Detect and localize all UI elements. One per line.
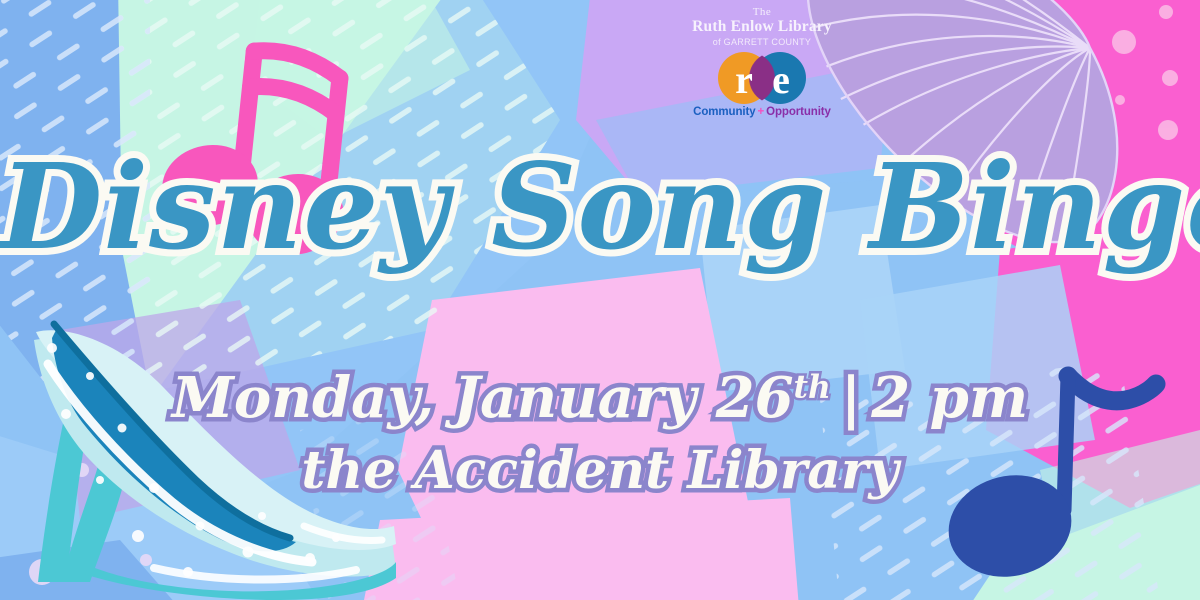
logo-letter-r: r — [735, 57, 753, 102]
tagline-community: Community — [693, 106, 755, 118]
event-title: Disney Song Bingo — [0, 148, 1200, 266]
disney-song-bingo-poster: The Ruth Enlow Library of GARRETT COUNTY… — [0, 0, 1200, 600]
event-date-time-line: Monday, January 26th|2 pm — [0, 368, 1200, 428]
logo-the-text: The — [676, 6, 848, 18]
date-ordinal-suffix: th — [794, 369, 831, 405]
library-logo: The Ruth Enlow Library of GARRETT COUNTY… — [676, 6, 848, 118]
details-block: Monday, January 26th|2 pm the Accident L… — [0, 368, 1200, 502]
logo-letter-e: e — [772, 57, 790, 102]
glass-slipper-icon — [0, 0, 1200, 600]
title-block: Disney Song Bingo — [0, 148, 1200, 266]
logo-re-mark: r e — [706, 52, 818, 104]
event-location: the Accident Library — [0, 440, 1200, 501]
logo-tagline: Community+Opportunity — [676, 106, 848, 118]
event-date: Monday, January 26 — [172, 365, 794, 431]
logo-county-text: of GARRETT COUNTY — [676, 37, 848, 49]
event-time: 2 pm — [871, 365, 1028, 431]
logo-library-name: Ruth Enlow Library — [676, 18, 848, 36]
tagline-plus: + — [756, 106, 767, 118]
date-time-separator: | — [831, 365, 871, 431]
tagline-opportunity: Opportunity — [766, 106, 831, 118]
